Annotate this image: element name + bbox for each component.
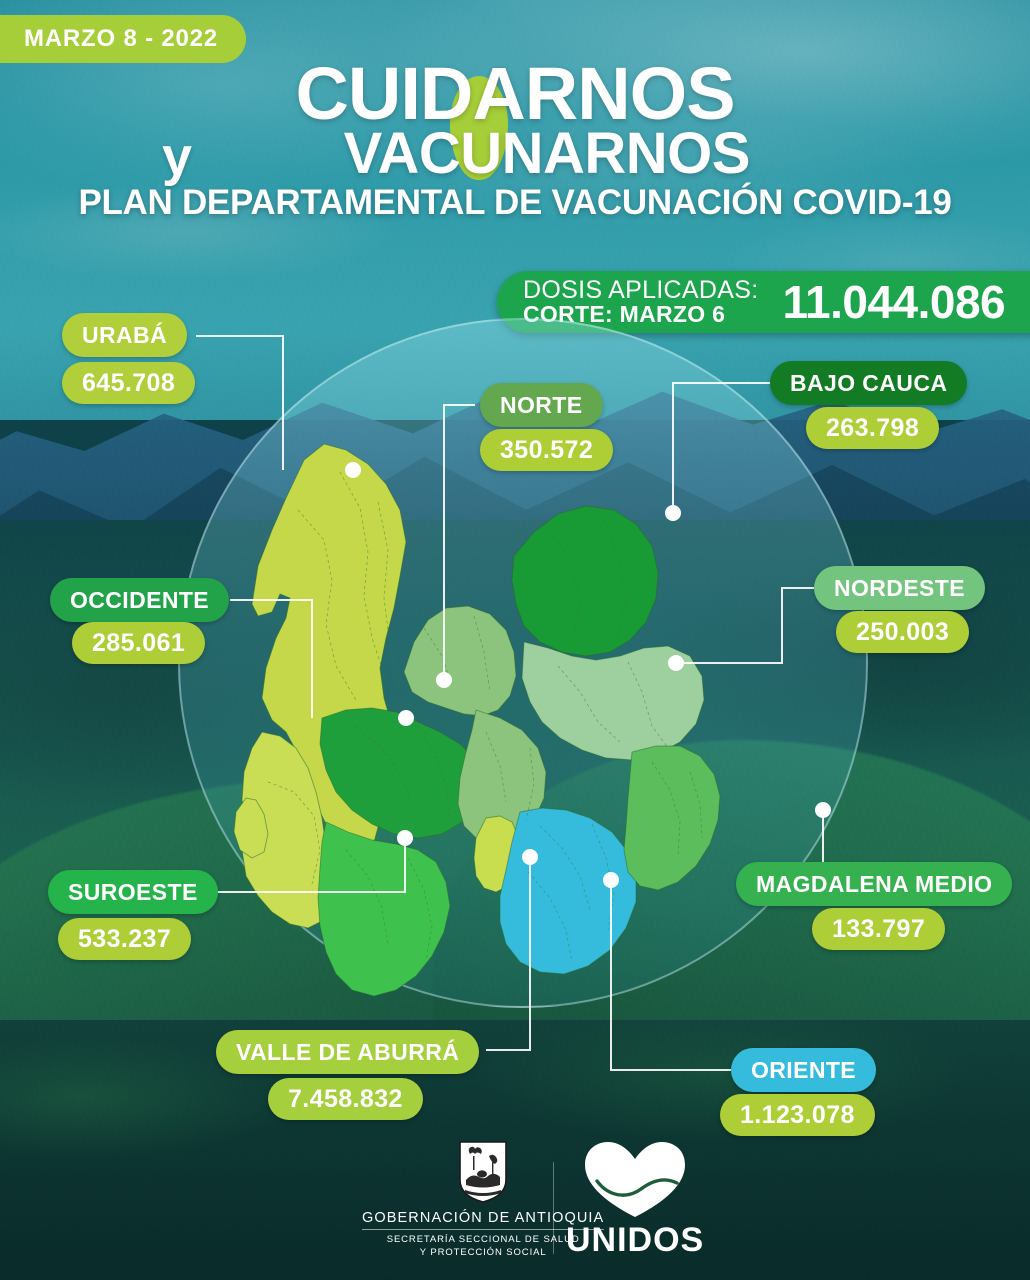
title-line-1: CUIDARNOS [295, 58, 734, 129]
gobernacion-subtitle: SECRETARÍA SECCIONAL DE SALUD Y PROTECCI… [387, 1234, 580, 1260]
title-block: CUIDARNOS yyVACUNARNOS y [0, 58, 1030, 183]
unidos-heart-icon [583, 1141, 687, 1219]
region-label-occidente[interactable]: OCCIDENTE [50, 578, 229, 622]
gobernacion-subtitle-line1: SECRETARÍA SECCIONAL DE SALUD [387, 1234, 580, 1247]
region-label-valle-de-aburra[interactable]: VALLE DE ABURRÁ [216, 1030, 479, 1074]
region-label-uraba[interactable]: URABÁ [62, 313, 187, 357]
region-value-nordeste[interactable]: 250.003 [836, 611, 969, 653]
map-region-suroeste [318, 822, 450, 996]
region-value-norte[interactable]: 350.572 [480, 429, 613, 471]
region-label-nordeste[interactable]: NORDESTE [814, 566, 985, 610]
footer: GOBERNACIÓN DE ANTIOQUIA SECRETARÍA SECC… [0, 1156, 1030, 1266]
footer-divider [553, 1162, 554, 1254]
map-region-magdalena-medio [624, 746, 720, 890]
region-label-bajo-cauca[interactable]: BAJO CAUCA [770, 361, 967, 405]
infographic-poster: MARZO 8 - 2022 CUIDARNOS yyVACUNARNOS y … [0, 0, 1030, 1280]
unidos-wordmark: UNIDOS [566, 1221, 704, 1260]
region-label-suroeste[interactable]: SUROESTE [48, 870, 218, 914]
region-value-bajo-cauca[interactable]: 263.798 [806, 407, 939, 449]
title-line-2: yyVACUNARNOS [280, 125, 750, 183]
region-value-occidente[interactable]: 285.061 [72, 622, 205, 664]
plan-subtitle: PLAN DEPARTAMENTAL DE VACUNACIÓN COVID-1… [0, 183, 1030, 223]
region-value-uraba[interactable]: 645.708 [62, 362, 195, 404]
region-label-norte[interactable]: NORTE [480, 383, 603, 427]
map-region-nordeste [522, 642, 704, 760]
map-region-norte [404, 606, 516, 716]
region-value-magdalena-medio[interactable]: 133.797 [812, 908, 945, 950]
map-region-oriente [500, 808, 636, 974]
region-value-suroeste[interactable]: 533.237 [58, 918, 191, 960]
map-region-bajo-cauca [512, 506, 658, 656]
region-value-oriente[interactable]: 1.123.078 [720, 1094, 875, 1136]
unidos-logo: UNIDOS [566, 1141, 704, 1260]
region-value-valle-de-aburra[interactable]: 7.458.832 [268, 1078, 423, 1120]
coat-of-arms-icon [457, 1140, 509, 1204]
region-label-magdalena-medio[interactable]: MAGDALENA MEDIO [736, 862, 1012, 906]
title-line-2-text: VACUNARNOS [344, 121, 750, 186]
antioquia-map [228, 380, 788, 1020]
title-y-letter: y [162, 126, 192, 188]
region-label-oriente[interactable]: ORIENTE [731, 1048, 876, 1092]
date-badge: MARZO 8 - 2022 [0, 15, 246, 63]
gobernacion-subtitle-line2: Y PROTECCIÓN SOCIAL [387, 1247, 580, 1260]
doses-label-line1: DOSIS APLICADAS: [523, 278, 758, 304]
doses-total-value: 11.044.086 [782, 275, 1005, 329]
date-badge-label: MARZO 8 - 2022 [24, 25, 218, 53]
